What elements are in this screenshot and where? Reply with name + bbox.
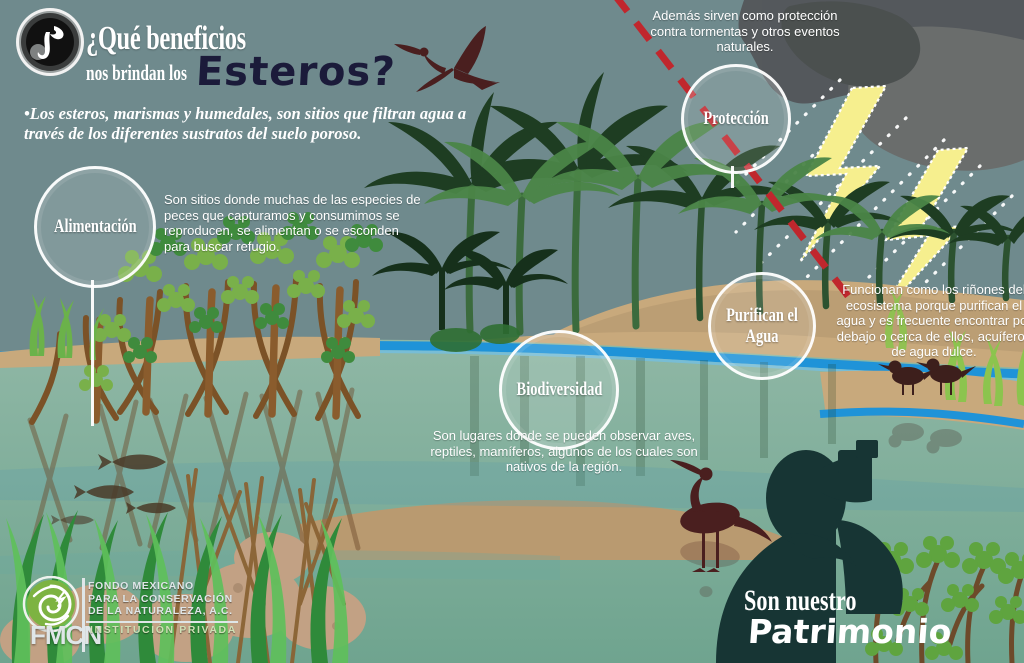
node-biodiversidad-label: Biodiversidad <box>516 379 602 401</box>
node-purifican-el-agua-label: Purifican el Agua <box>723 305 801 347</box>
fmcn-logo-lockup: FMCN FONDO MEXICANO PARA LA CONSERVACIÓN… <box>16 576 236 654</box>
alimentacion-pointer-stem <box>91 280 94 426</box>
node-alimentacion[interactable]: Alimentación <box>34 166 156 288</box>
page-title-line2: nos brindan los <box>86 62 187 84</box>
node-proteccion-text: Además sirven como protección contra tor… <box>640 8 850 55</box>
node-proteccion-label: Protección <box>703 108 768 130</box>
fmcn-org-line1: FONDO MEXICANO <box>88 580 233 593</box>
node-purifican-el-agua[interactable]: Purifican el Agua <box>708 272 816 380</box>
fmcn-divider <box>80 578 86 652</box>
page-title-keyword: Esteros? <box>195 52 397 92</box>
intro-paragraph: •Los esteros, marismas y humedales, son … <box>24 104 494 144</box>
emblem-logo <box>12 6 88 78</box>
fmcn-org-name: FONDO MEXICANO PARA LA CONSERVACIÓN DE L… <box>88 580 233 618</box>
node-alimentacion-label: Alimentación <box>54 216 137 238</box>
slogan-line2: Patrimonio <box>747 612 953 651</box>
node-purifican-el-agua-text: Funcionan como los riñones del ecosistem… <box>836 282 1024 360</box>
node-biodiversidad-text: Son lugares donde se pueden observar ave… <box>424 428 704 475</box>
fmcn-institution-type: INSTITUCIÓN PRIVADA <box>90 624 237 636</box>
fmcn-org-line2: PARA LA CONSERVACIÓN <box>88 593 233 606</box>
infographic-poster: ¿Qué beneficios nos brindan los Esteros?… <box>0 0 1024 663</box>
node-proteccion[interactable]: Protección <box>681 64 791 174</box>
node-alimentacion-text: Son sitios donde muchas de las especies … <box>164 192 422 254</box>
fmcn-org-line3: DE LA NATURALEZA, A.C. <box>88 605 233 618</box>
